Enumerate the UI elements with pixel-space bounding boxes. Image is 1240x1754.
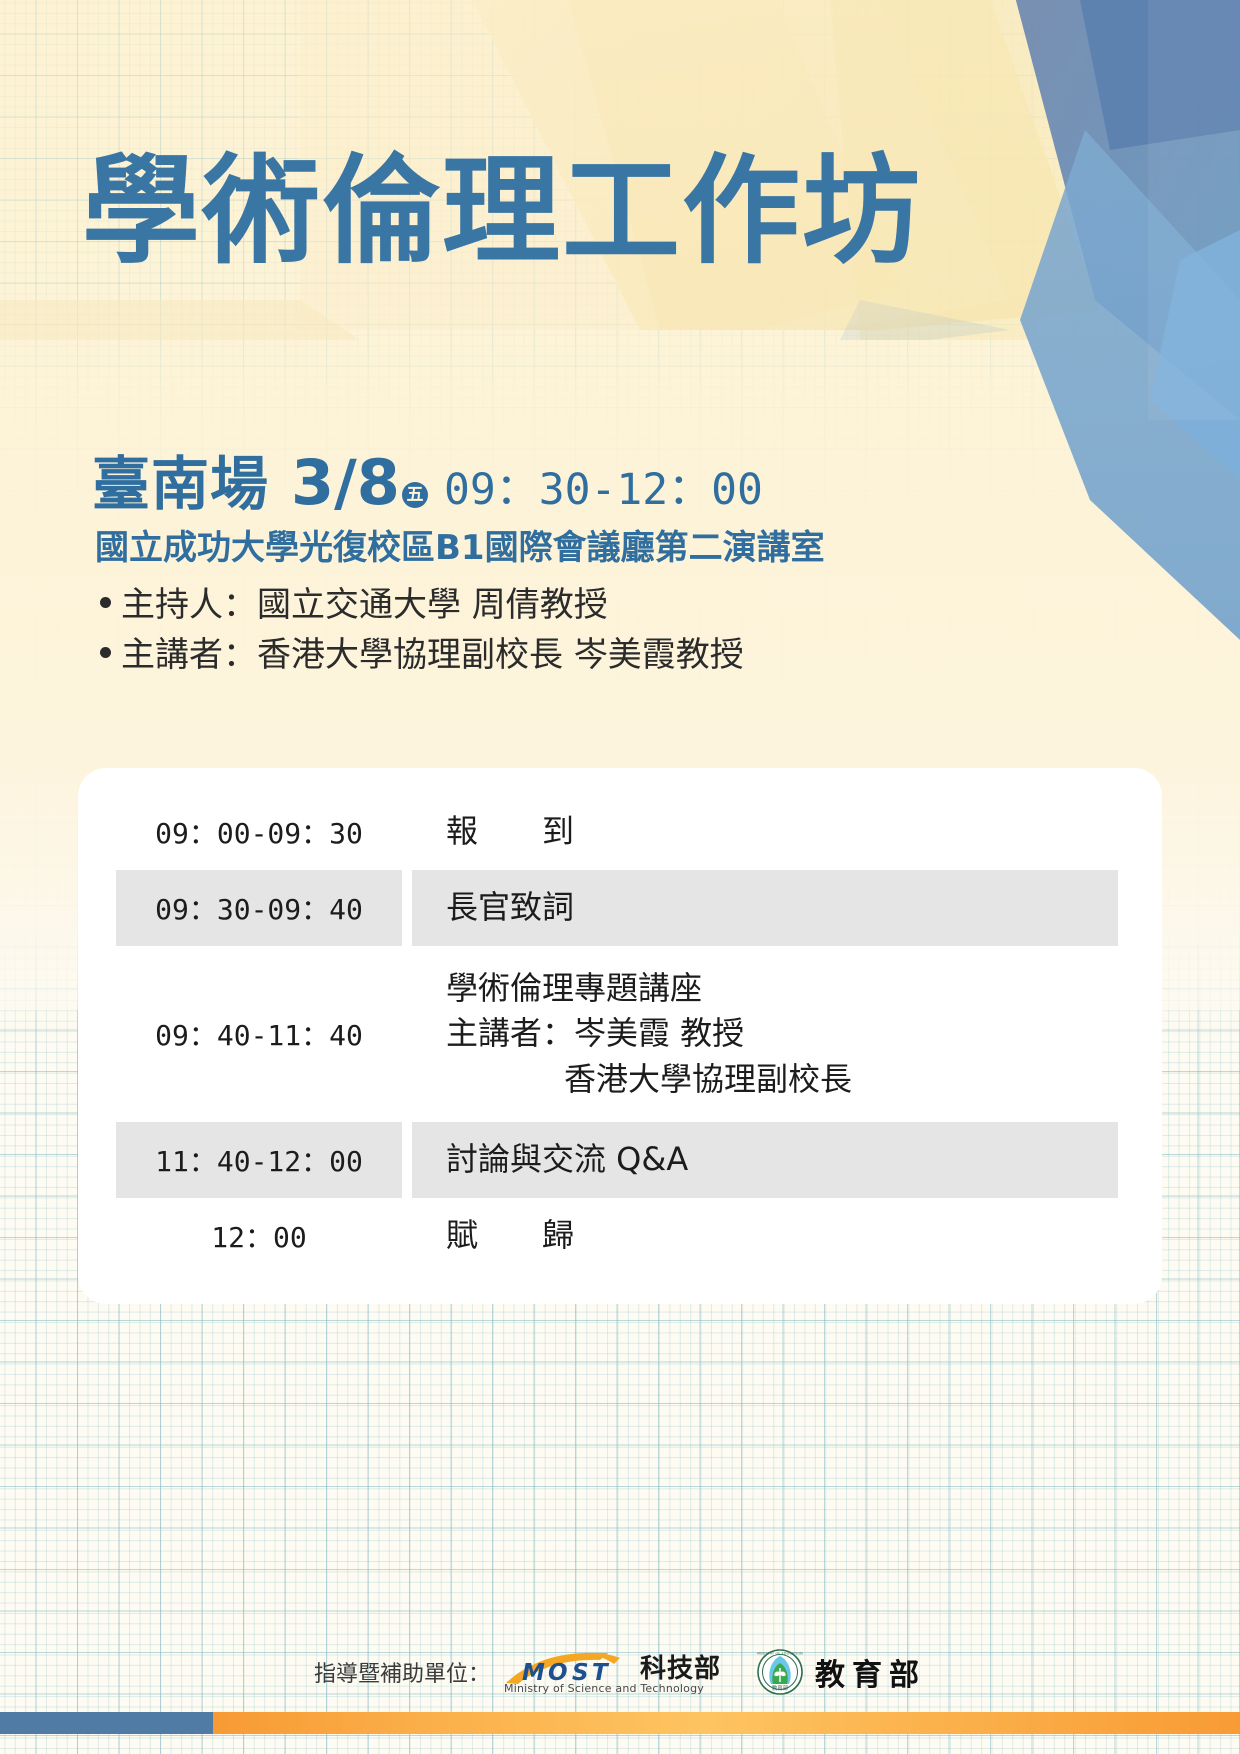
- table-row: 11：40-12：00 討論與交流 Q&A: [78, 1122, 1162, 1198]
- schedule-spacer: [402, 870, 412, 946]
- schedule-line: 香港大學協理副校長: [446, 1057, 1118, 1102]
- table-row: 09：40-11：40 學術倫理專題講座 主講者：岑美霞 教授 香港大學協理副校…: [78, 946, 1162, 1122]
- moe-seal-label-en: MINISTRY OF EDUCATION: [757, 1651, 803, 1655]
- table-row: 09：00-09：30 報 到: [78, 794, 1162, 870]
- session-city: 臺南場: [92, 437, 269, 521]
- moe-logo: 教育部 MINISTRY OF EDUCATION 教育部: [757, 1649, 926, 1695]
- session-venue: 國立成功大學光復校區B1國際會議廳第二演講室: [95, 520, 825, 569]
- table-row: 09：30-09：40 長官致詞: [78, 870, 1162, 946]
- moe-seal-icon: 教育部 MINISTRY OF EDUCATION: [757, 1649, 803, 1695]
- host-detail: 國立交通大學 周倩教授: [257, 580, 608, 630]
- table-row: 12：00 賦 歸: [78, 1198, 1162, 1274]
- session-date: 3/8: [291, 446, 400, 519]
- schedule-spacer: [402, 946, 412, 1122]
- schedule-spacer: [402, 1122, 412, 1198]
- schedule-description: 學術倫理專題講座 主講者：岑美霞 教授 香港大學協理副校長: [412, 946, 1118, 1122]
- footer-bar-orange: [213, 1712, 1240, 1734]
- footer-sponsor-label: 指導暨補助單位：: [314, 1656, 490, 1688]
- speaker-detail: 香港大學協理副校長 岑美霞教授: [257, 630, 744, 680]
- host-role-label: 主持人：: [121, 580, 257, 630]
- bullet-icon: [100, 597, 111, 608]
- schedule-line: 討論與交流 Q&A: [446, 1137, 1118, 1182]
- schedule-time: 09：40-11：40: [116, 946, 402, 1122]
- schedule-spacer: [402, 794, 412, 870]
- most-logo-top-row: M O S T 科技部: [504, 1648, 721, 1685]
- page-title: 學術倫理工作坊: [82, 142, 922, 281]
- most-agency-name-cn: 科技部: [640, 1648, 721, 1685]
- most-logo-stack: M O S T 科技部 Ministry of Science and Tech…: [504, 1648, 721, 1695]
- schedule-time: 09：30-09：40: [116, 870, 402, 946]
- schedule-time: 12：00: [116, 1198, 402, 1274]
- schedule-spacer: [402, 1198, 412, 1274]
- most-agency-name-en: Ministry of Science and Technology: [504, 1682, 721, 1695]
- schedule-line: 長官致詞: [446, 885, 1118, 930]
- moe-agency-name-cn: 教育部: [815, 1650, 926, 1694]
- footer: 指導暨補助單位： M O S T 科技部 Ministry of Science…: [0, 1648, 1240, 1695]
- list-item-speaker: 主講者： 香港大學協理副校長 岑美霞教授: [100, 630, 744, 680]
- schedule-card: 09：00-09：30 報 到 09：30-09：40 長官致詞 09：40-1…: [78, 768, 1162, 1304]
- schedule-time: 11：40-12：00: [116, 1122, 402, 1198]
- most-wordmark-icon: M O S T: [504, 1651, 632, 1685]
- speaker-role-label: 主講者：: [121, 630, 257, 680]
- schedule-description: 討論與交流 Q&A: [412, 1122, 1118, 1198]
- session-time: 09：30-12：00: [444, 455, 763, 517]
- bullet-icon: [100, 647, 111, 658]
- people-list: 主持人： 國立交通大學 周倩教授 主講者： 香港大學協理副校長 岑美霞教授: [100, 580, 744, 681]
- schedule-line: 報 到: [446, 809, 1118, 854]
- list-item-host: 主持人： 國立交通大學 周倩教授: [100, 580, 744, 630]
- schedule-line: 主講者：岑美霞 教授: [446, 1011, 1118, 1056]
- most-logo: M O S T 科技部 Ministry of Science and Tech…: [504, 1648, 721, 1695]
- schedule-time: 09：00-09：30: [116, 794, 402, 870]
- schedule-description: 賦 歸: [412, 1198, 1118, 1274]
- schedule-description: 長官致詞: [412, 870, 1118, 946]
- schedule-line: 賦 歸: [446, 1213, 1118, 1258]
- footer-bar-blue: [0, 1712, 213, 1734]
- moe-seal-label-cn: 教育部: [772, 1684, 789, 1692]
- schedule-line: 學術倫理專題講座: [446, 966, 1118, 1011]
- schedule-description: 報 到: [412, 794, 1118, 870]
- poster-canvas: 學術倫理工作坊 臺南場 3/8 五 09：30-12：00 國立成功大學光復校區…: [0, 0, 1240, 1754]
- session-header: 臺南場 3/8 五 09：30-12：00: [92, 437, 763, 521]
- session-weekday-badge: 五: [402, 482, 428, 508]
